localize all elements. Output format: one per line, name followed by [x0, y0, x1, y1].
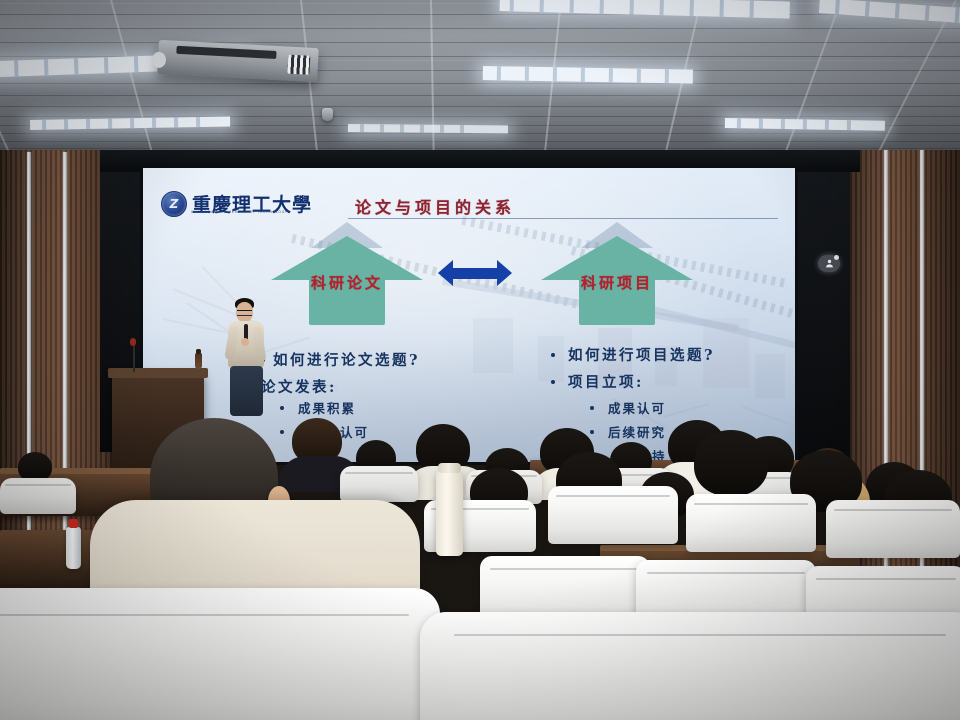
audience-head — [694, 430, 768, 496]
slide-title: 论文与项目的关系 — [355, 194, 515, 218]
podium-top — [108, 368, 208, 378]
bullet-marker — [551, 380, 555, 384]
bidirectional-arrow — [438, 260, 512, 286]
chair-foreground — [420, 612, 960, 720]
university-logo: Z 重慶理工大學 CHONGQING UNIVERSITY OF TECHNOL… — [161, 190, 312, 217]
bullet-marker — [590, 430, 594, 434]
speaker-glasses — [237, 310, 252, 316]
person-icon — [824, 258, 835, 269]
ceiling — [0, 0, 960, 162]
ceiling-light-fixture — [348, 124, 508, 133]
bullet-marker — [590, 406, 594, 410]
smoke-detector — [322, 108, 333, 121]
ceiling-light-fixture — [725, 118, 885, 131]
chair — [340, 466, 418, 502]
seal-letter: Z — [170, 198, 179, 210]
bullet-right-4: 后续研究 — [608, 422, 666, 441]
speaker — [226, 298, 276, 428]
arrow-block-left: 科研论文 — [271, 226, 423, 326]
chair — [548, 486, 678, 544]
ceiling-light-fixture — [30, 117, 230, 130]
chair-foreground — [0, 588, 440, 720]
wall-dark-right — [790, 152, 850, 462]
bullet-right-1: 如何进行项目选题? — [568, 344, 715, 365]
water-bottle — [66, 527, 81, 569]
podium-microphone-head — [130, 338, 136, 346]
bullet-marker — [280, 430, 284, 434]
arrow-block-right: 科研项目 — [541, 226, 693, 326]
chair — [826, 500, 960, 558]
bullet-left-4: 认可 — [340, 422, 369, 441]
arrow-label-right: 科研项目 — [541, 272, 693, 293]
arrow-label-left: 科研论文 — [271, 272, 423, 293]
podium-water-bottle — [195, 353, 202, 369]
bullet-left-3: 成果积累 — [298, 398, 356, 417]
bullet-marker — [280, 406, 284, 410]
ceiling-light-fixture — [483, 66, 693, 84]
ceiling-ac-unit — [157, 40, 319, 82]
lecture-hall-photo: Z 重慶理工大學 CHONGQING UNIVERSITY OF TECHNOL… — [0, 0, 960, 720]
arrow-tip-left — [438, 260, 453, 286]
title-underline — [348, 218, 778, 219]
university-seal-icon: Z — [161, 191, 187, 217]
arrow-shaft — [453, 268, 497, 279]
thermos-lid — [438, 463, 461, 473]
wall-panel-right — [845, 150, 960, 630]
bullet-marker — [551, 353, 555, 357]
bottle-cap — [69, 519, 78, 528]
arrow-tip-right — [497, 260, 512, 286]
chair — [0, 478, 76, 514]
bullet-right-3: 成果认可 — [608, 398, 666, 417]
speaker-hand — [241, 338, 249, 346]
university-name-en: CHONGQING UNIVERSITY OF TECHNOLOGY — [191, 210, 288, 214]
speaker-legs — [230, 366, 263, 416]
bullet-right-2: 项目立项: — [568, 371, 644, 392]
podium-microphone-stand — [133, 344, 135, 372]
person-badge-overlay — [818, 255, 840, 272]
badge-dot — [834, 255, 839, 260]
thermos-flask — [436, 470, 463, 556]
bullet-left-1: 如何进行论文选题? — [273, 349, 420, 370]
chair — [686, 494, 816, 552]
ceiling-light-fixture — [500, 0, 790, 19]
